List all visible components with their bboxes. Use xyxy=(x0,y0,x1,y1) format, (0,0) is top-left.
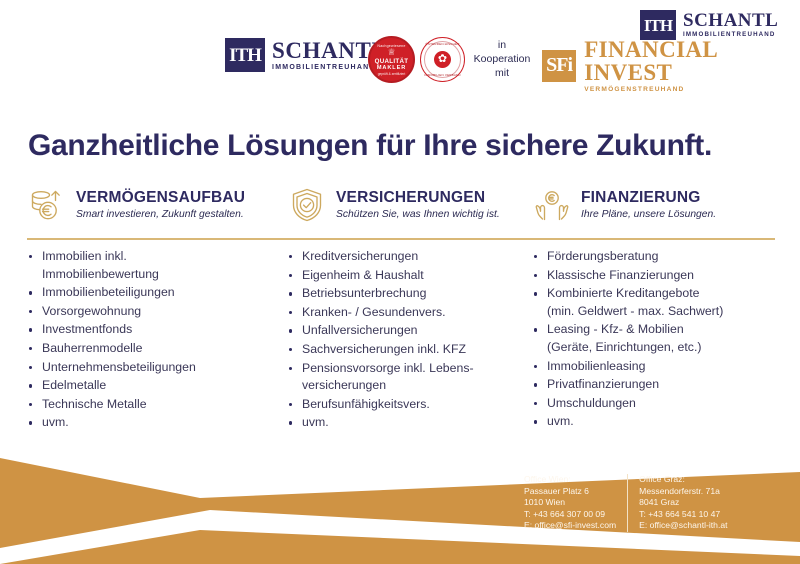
list-item-text: Immobilienleasing xyxy=(547,359,645,373)
column-header-text: VERMÖGENSAUFBAU Smart investieren, Zukun… xyxy=(76,186,245,221)
ith-schantl-logo-main: ITH SCHANTL IMMOBILIENTREUHAND xyxy=(225,38,387,72)
list-item-text: Sachversicherungen inkl. KFZ xyxy=(302,342,466,356)
sfi-wordmark: FINANCIAL INVEST VERMÖGENSTREUHAND xyxy=(584,38,800,93)
list-item: uvm. xyxy=(27,414,287,432)
ith-schantl-logo-topright: ITH SCHANTL IMMOBILIENTREUHAND xyxy=(640,10,778,40)
office-title: Office Wien: xyxy=(524,474,616,486)
list-item-text: Vorsorgewohnung xyxy=(42,304,141,318)
seal-bottom-text: geprüft & zertifiziert xyxy=(378,72,405,76)
column-subtitle: Smart investieren, Zukunft gestalten. xyxy=(76,208,245,221)
list-item-text: uvm. xyxy=(547,414,574,428)
list-item: Investmentfonds xyxy=(27,321,287,339)
column-title: VERMÖGENSAUFBAU xyxy=(76,189,245,206)
crest-bottom-text: IMMOBILIEN VERBAND xyxy=(421,73,464,77)
list-item: uvm. xyxy=(287,414,532,432)
ith-monogram-icon: ITH xyxy=(640,10,676,40)
certification-seals: Nachgewiesene ♕ QUALITÄT MAKLER geprüft … xyxy=(368,36,465,83)
footer-contacts: Office Wien: Passauer Platz 6 1010 Wien … xyxy=(524,474,728,532)
list-item: Edelmetalle xyxy=(27,377,287,395)
list-item-continuation: (min. Geldwert - max. Sachwert) xyxy=(547,303,780,321)
coins-euro-growth-icon xyxy=(27,185,67,225)
office-wien-block: Office Wien: Passauer Platz 6 1010 Wien … xyxy=(524,474,628,532)
column-finanzierung: FINANZIERUNG Ihre Pläne, unsere Lösungen… xyxy=(532,186,780,433)
office-email[interactable]: E: office@schantl-ith.at xyxy=(639,520,727,532)
service-columns: VERMÖGENSAUFBAU Smart investieren, Zukun… xyxy=(0,186,800,433)
column-subtitle: Ihre Pläne, unsere Lösungen. xyxy=(581,208,716,221)
quality-broker-seal-icon: Nachgewiesene ♕ QUALITÄT MAKLER geprüft … xyxy=(368,36,415,83)
cooperation-note: in Kooperation mit xyxy=(466,38,538,80)
ith-monogram-icon: ITH xyxy=(225,38,265,72)
sfi-name-text: FINANCIAL INVEST xyxy=(584,38,800,84)
seal-line2-text: MAKLER xyxy=(377,65,406,71)
list-item-text: Unternehmensbeteiligungen xyxy=(42,360,196,374)
column-header: FINANZIERUNG Ihre Pläne, unsere Lösungen… xyxy=(532,186,780,232)
list-item-text: Betriebsunterbrechung xyxy=(302,286,426,300)
column-header-text: FINANZIERUNG Ihre Pläne, unsere Lösungen… xyxy=(581,186,716,221)
seal-crown-glyph: ♕ xyxy=(387,48,395,57)
list-item: Kombinierte Kreditangebote(min. Geldwert… xyxy=(532,285,780,320)
ith-name-text: SCHANTL xyxy=(683,11,778,30)
sfi-subtitle-text: VERMÖGENSTREUHAND xyxy=(584,86,800,93)
list-item-text: Förderungsberatung xyxy=(547,249,658,263)
office-city: 8041 Graz xyxy=(639,497,727,509)
service-list: Immobilien inkl.Immobilienbewertung Immo… xyxy=(27,248,287,432)
list-item: Klassische Finanzierungen xyxy=(532,267,780,285)
office-phone[interactable]: T: +43 664 541 10 47 xyxy=(639,509,727,521)
office-graz-block: Office Graz: Messendorferstr. 71a 8041 G… xyxy=(628,474,727,532)
list-item: Berufsunfähigkeitsvers. xyxy=(287,396,532,414)
list-item-text: Kreditversicherungen xyxy=(302,249,418,263)
list-item-text: Immobilienbeteiligungen xyxy=(42,285,175,299)
cooperation-line-3: mit xyxy=(466,66,538,80)
list-item: Unternehmensbeteiligungen xyxy=(27,359,287,377)
list-item-continuation: Immobilienbewertung xyxy=(42,266,287,284)
office-city: 1010 Wien xyxy=(524,497,616,509)
list-item: Privatfinanzierungen xyxy=(532,376,780,394)
column-header-text: VERSICHERUNGEN Schützen Sie, was Ihnen w… xyxy=(336,186,500,221)
list-item-text: Klassische Finanzierungen xyxy=(547,268,694,282)
list-item-text: Technische Metalle xyxy=(42,397,147,411)
hands-holding-coin-icon xyxy=(532,185,572,225)
cooperation-line-1: in xyxy=(466,38,538,52)
list-item: Umschuldungen xyxy=(532,395,780,413)
list-item: Sachversicherungen inkl. KFZ xyxy=(287,341,532,359)
list-item: Betriebsunterbrechung xyxy=(287,285,532,303)
list-item-text: Bauherrenmodelle xyxy=(42,341,143,355)
office-street: Messendorferstr. 71a xyxy=(639,486,727,498)
shield-check-icon xyxy=(287,185,327,225)
seal-top-text: Nachgewiesene xyxy=(377,44,405,48)
list-item: Immobilien inkl.Immobilienbewertung xyxy=(27,248,287,283)
list-item: Immobilienbeteiligungen xyxy=(27,284,287,302)
column-header: VERMÖGENSAUFBAU Smart investieren, Zukun… xyxy=(27,186,287,232)
list-item-text: Kombinierte Kreditangebote xyxy=(547,286,699,300)
ith-monogram-text: ITH xyxy=(644,17,672,34)
list-item-text: Unfallversicherungen xyxy=(302,323,418,337)
column-title: FINANZIERUNG xyxy=(581,189,716,206)
list-item: Unfallversicherungen xyxy=(287,322,532,340)
column-title: VERSICHERUNGEN xyxy=(336,189,500,206)
list-item-text: uvm. xyxy=(42,415,69,429)
list-item-text: Umschuldungen xyxy=(547,396,636,410)
list-item: Förderungsberatung xyxy=(532,248,780,266)
list-item-text: Leasing - Kfz- & Mobilien xyxy=(547,322,684,336)
list-item: Technische Metalle xyxy=(27,396,287,414)
office-street: Passauer Platz 6 xyxy=(524,486,616,498)
office-email[interactable]: E: office@sfi-invest.com xyxy=(524,520,616,532)
association-crest-seal-icon: ÖSTERREICHISCHER ✿ IMMOBILIEN VERBAND xyxy=(420,37,465,82)
list-item: Kranken- / Gesundenvers. xyxy=(287,304,532,322)
brochure-page: ITH SCHANTL IMMOBILIENTREUHAND ITH SCHAN… xyxy=(0,0,800,564)
column-vermoegensaufbau: VERMÖGENSAUFBAU Smart investieren, Zukun… xyxy=(27,186,287,433)
list-item: Pensionsvorsorge inkl. Lebens-versicheru… xyxy=(287,360,532,395)
sfi-monogram-icon: SFi xyxy=(542,50,576,82)
column-versicherungen: VERSICHERUNGEN Schützen Sie, was Ihnen w… xyxy=(287,186,532,433)
ith-wordmark: SCHANTL IMMOBILIENTREUHAND xyxy=(683,11,778,38)
office-phone[interactable]: T: +43 664 307 00 09 xyxy=(524,509,616,521)
list-item: Kreditversicherungen xyxy=(287,248,532,266)
list-item: Vorsorgewohnung xyxy=(27,303,287,321)
list-item-text: uvm. xyxy=(302,415,329,429)
list-item-text: Kranken- / Gesundenvers. xyxy=(302,305,446,319)
list-item: uvm. xyxy=(532,413,780,431)
page-title: Ganzheitliche Lösungen für Ihre sichere … xyxy=(28,128,778,164)
list-item-text: Edelmetalle xyxy=(42,378,106,392)
list-item-text: Eigenheim & Haushalt xyxy=(302,268,424,282)
column-subtitle: Schützen Sie, was Ihnen wichtig ist. xyxy=(336,208,500,221)
service-list: Förderungsberatung Klassische Finanzieru… xyxy=(532,248,780,431)
crest-top-text: ÖSTERREICHISCHER xyxy=(421,42,464,46)
list-item-text: Immobilien inkl. xyxy=(42,249,127,263)
list-item: Immobilienleasing xyxy=(532,358,780,376)
cooperation-line-2: Kooperation xyxy=(466,52,538,66)
logo-bar: ITH SCHANTL IMMOBILIENTREUHAND ITH SCHAN… xyxy=(0,0,800,100)
list-item-continuation: versicherungen xyxy=(302,377,532,395)
list-item: Bauherrenmodelle xyxy=(27,340,287,358)
list-item-text: Pensionsvorsorge inkl. Lebens- xyxy=(302,361,474,375)
list-item: Leasing - Kfz- & Mobilien(Geräte, Einric… xyxy=(532,321,780,356)
list-item-continuation: (Geräte, Einrichtungen, etc.) xyxy=(547,339,780,357)
sfi-monogram-text: SFi xyxy=(546,54,572,77)
sfi-financial-invest-logo: SFi FINANCIAL INVEST VERMÖGENSTREUHAND xyxy=(542,38,800,93)
ith-monogram-text: ITH xyxy=(229,46,261,65)
seal-line1-text: QUALITÄT xyxy=(375,58,409,65)
list-item: Eigenheim & Haushalt xyxy=(287,267,532,285)
list-item-text: Berufsunfähigkeitsvers. xyxy=(302,397,430,411)
column-header: VERSICHERUNGEN Schützen Sie, was Ihnen w… xyxy=(287,186,532,232)
service-list: Kreditversicherungen Eigenheim & Haushal… xyxy=(287,248,532,432)
list-item-text: Privatfinanzierungen xyxy=(547,377,659,391)
list-item-text: Investmentfonds xyxy=(42,322,132,336)
office-title: Office Graz: xyxy=(639,474,727,486)
